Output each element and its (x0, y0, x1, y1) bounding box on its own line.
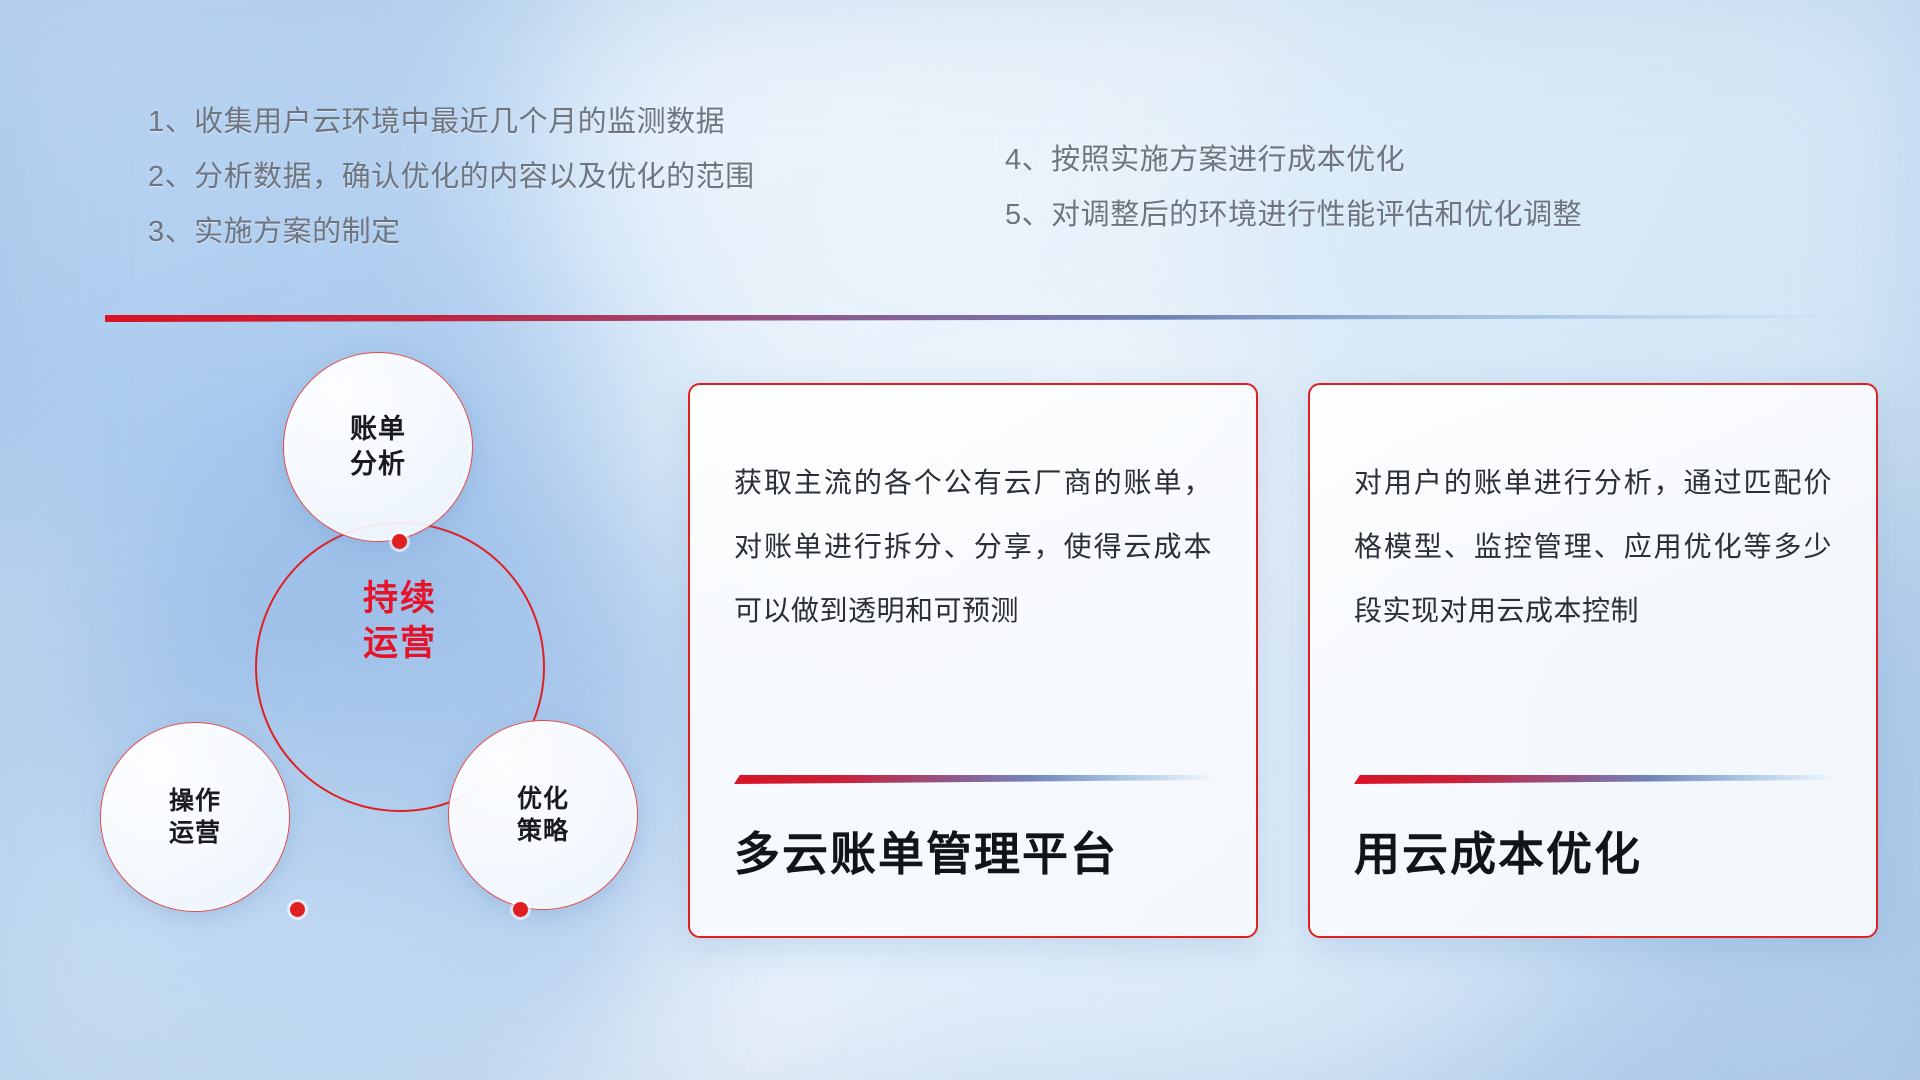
feature-card-body: 获取主流的各个公有云厂商的账单，对账单进行拆分、分享，使得云成本可以做到透明和可… (690, 385, 1256, 642)
venn-bubble-label-line1: 操作 (169, 785, 221, 818)
venn-bubble-label-line1: 账单 (350, 412, 406, 447)
venn-bubble-label-line2: 分析 (350, 447, 406, 482)
connector-dot-icon (290, 902, 305, 917)
connector-dot-icon (513, 902, 528, 917)
step-item-3: 3、实施方案的制定 (148, 218, 755, 247)
steps-right-column: 4、按照实施方案进行成本优化 5、对调整后的环境进行性能评估和优化调整 (1005, 146, 1582, 256)
feature-card-divider (734, 775, 1216, 784)
venn-diagram: 持续 运营 账单 分析 操作 运营 优化 策略 (100, 352, 640, 942)
venn-center-label-line2: 运营 (325, 622, 475, 667)
venn-bubble-operations[interactable]: 操作 运营 (100, 722, 290, 912)
feature-card-title: 多云账单管理平台 (734, 829, 1224, 880)
venn-bubble-optimization-strategy[interactable]: 优化 策略 (448, 720, 638, 910)
steps-section: 1、收集用户云环境中最近几个月的监测数据 2、分析数据，确认优化的内容以及优化的… (0, 108, 1920, 288)
venn-bubble-label-line1: 优化 (517, 783, 569, 816)
connector-dot-icon (392, 534, 407, 549)
venn-bubble-billing-analysis[interactable]: 账单 分析 (283, 352, 473, 542)
feature-card-multicloud-billing[interactable]: 获取主流的各个公有云厂商的账单，对账单进行拆分、分享，使得云成本可以做到透明和可… (688, 383, 1258, 938)
step-item-2: 2、分析数据，确认优化的内容以及优化的范围 (148, 163, 755, 192)
feature-card-title: 用云成本优化 (1354, 829, 1844, 880)
venn-bubble-label-line2: 运营 (169, 817, 221, 850)
feature-card-cloud-cost-optimization[interactable]: 对用户的账单进行分析，通过匹配价格模型、监控管理、应用优化等多少段实现对用云成本… (1308, 383, 1878, 938)
feature-card-body: 对用户的账单进行分析，通过匹配价格模型、监控管理、应用优化等多少段实现对用云成本… (1310, 385, 1876, 642)
step-item-5: 5、对调整后的环境进行性能评估和优化调整 (1005, 201, 1582, 230)
step-item-1: 1、收集用户云环境中最近几个月的监测数据 (148, 108, 755, 137)
step-item-4: 4、按照实施方案进行成本优化 (1005, 146, 1582, 175)
venn-center-label-line1: 持续 (325, 577, 475, 622)
feature-card-divider (1354, 775, 1836, 784)
venn-center-label: 持续 运营 (325, 577, 475, 667)
venn-bubble-label-line2: 策略 (517, 815, 569, 848)
steps-left-column: 1、收集用户云环境中最近几个月的监测数据 2、分析数据，确认优化的内容以及优化的… (148, 108, 755, 273)
